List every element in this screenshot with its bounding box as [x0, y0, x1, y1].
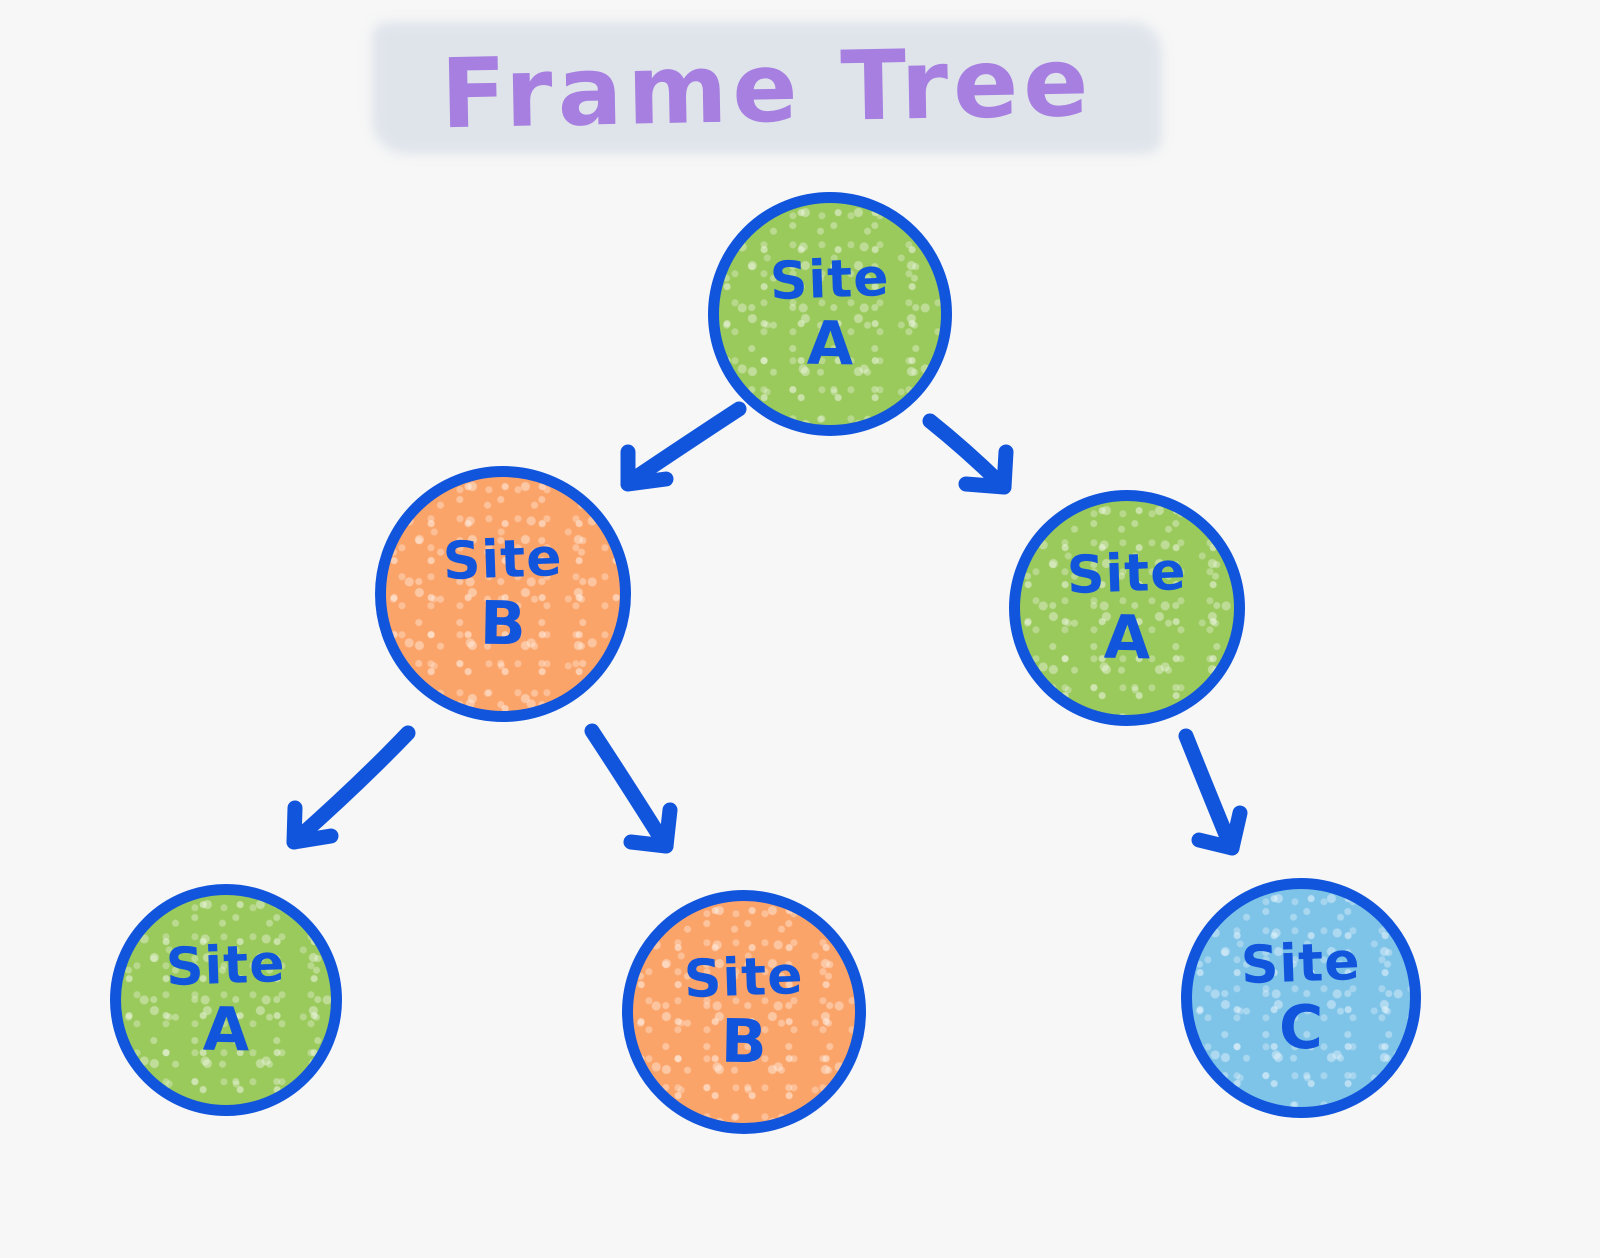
edge-mid-left-to-leaf-left: [294, 733, 408, 842]
node-label-line1: Site: [1240, 936, 1361, 992]
edge-mid-left-to-leaf-middle: [592, 731, 670, 846]
node-label-line2: B: [480, 594, 527, 655]
node-label-line1: Site: [1066, 546, 1187, 602]
node-label-line1: Site: [769, 252, 890, 308]
node-label-line2: C: [1278, 998, 1323, 1059]
node-label-line2: A: [806, 314, 853, 375]
node-label-line1: Site: [442, 532, 563, 588]
node-label-line1: Site: [165, 938, 286, 994]
edge-root-to-mid-right: [930, 421, 1006, 487]
title-block: Frame Tree: [0, 0, 1600, 175]
edge-mid-right-to-leaf-right: [1186, 736, 1240, 848]
edge-root-to-mid-left: [628, 409, 739, 484]
node-label-line2: B: [721, 1012, 768, 1073]
node-label-line1: Site: [683, 950, 804, 1006]
node-mid-left-site-b[interactable]: Site B: [375, 466, 631, 722]
node-label-line2: A: [202, 1000, 249, 1061]
node-leaf-right-site-c[interactable]: Site C: [1181, 878, 1421, 1118]
page-title: Frame Tree: [371, 18, 1163, 158]
node-mid-right-site-a[interactable]: Site A: [1009, 490, 1245, 726]
node-leaf-left-site-a[interactable]: Site A: [110, 884, 342, 1116]
node-leaf-middle-site-b[interactable]: Site B: [622, 890, 866, 1134]
node-root-site-a[interactable]: Site A: [708, 192, 952, 436]
node-label-line2: A: [1103, 608, 1150, 669]
frame-tree-diagram: Frame Tree: [0, 0, 1600, 1258]
